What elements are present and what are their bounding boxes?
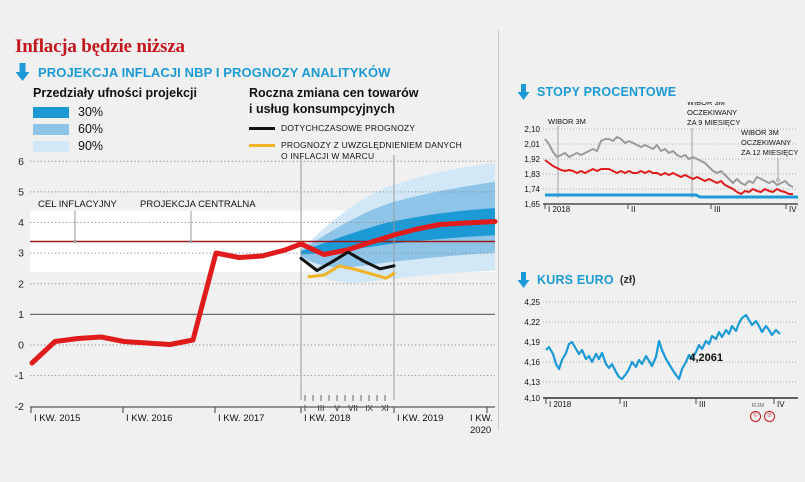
euro-xtick-2018: I 2018 (549, 400, 572, 408)
arrow-down-icon (516, 84, 531, 100)
xtick-2016: I KW. 2016 (126, 413, 172, 424)
euro-xtick-III: III (699, 400, 706, 408)
rates-annotation-wibor3m: WIBOR 3M (548, 117, 586, 126)
ytick-0: 0 (18, 340, 24, 352)
legend-confidence-bands: Przedziały ufności projekcji 30% 60% 90% (33, 86, 248, 156)
euro-x-labels: I 2018 II III IV (549, 400, 785, 408)
euro-value-label: 4,2061 (689, 352, 723, 364)
subtitle-row: PROJEKCJA INFLACJI NBP I PROGNOZY ANALIT… (14, 63, 391, 81)
rates-x-ticks (545, 204, 786, 209)
line-swatch-updated (249, 144, 275, 147)
euro-ytick-416: 4,16 (524, 358, 540, 367)
rates-ytick-210: 2,10 (524, 125, 540, 134)
euro-xtick-IV: IV (777, 400, 785, 408)
euro-panel-header: KURS EURO (zł) (516, 272, 805, 288)
xtick-2018: I KW. 2018 (304, 413, 350, 424)
rates-ytick-201: 2,01 (524, 140, 540, 149)
euro-rate-chart: 4,25 4,22 4,19 4,16 4,13 4,10 4,2061 I 2… (516, 290, 805, 408)
legend-lines-heading: Roczna zmiana cen towarów i usług konsum… (249, 86, 484, 117)
inflation-projection-chart: 6 5 4 3 2 1 0 -1 -2 CEL INFLACYJNY PROJE… (0, 155, 500, 440)
month-label-VII: VII (348, 404, 358, 413)
month-label-III: III (318, 404, 325, 413)
legend-line-item-previous: DOTYCHCZASOWE PROGNOZY (249, 123, 484, 134)
author-initials: RJM (752, 403, 764, 409)
panel-divider (498, 30, 499, 430)
ytick-1: 1 (18, 309, 24, 321)
xtick-2017: I KW. 2017 (218, 413, 264, 424)
band-swatch-90 (33, 141, 69, 152)
band-label-30: 30% (78, 105, 103, 119)
rates-y-labels: 2,10 2,01 1,92 1,83 1,74 1,65 (524, 125, 540, 209)
rates-annotation-9m-line1: WIBOR 3M (687, 102, 725, 107)
ytick-neg1: -1 (15, 370, 24, 382)
euro-panel-title: KURS EURO (537, 273, 614, 287)
annotation-projekcja-centralna-text: PROJEKCJA CENTRALNA (140, 199, 256, 210)
rates-ytick-192: 1,92 (524, 155, 540, 164)
phonogram-icon: ℗ (764, 411, 775, 422)
copyright-marks: © ℗ (750, 411, 775, 422)
xtick-2019: I KW. 2019 (397, 413, 443, 424)
ytick-3: 3 (18, 248, 24, 260)
subtitle-text: PROJEKCJA INFLACJI NBP I PROGNOZY ANALIT… (38, 65, 391, 80)
rates-annotation-12m-line2: OCZEKIWANY (741, 138, 791, 147)
month-label-V: V (334, 404, 340, 413)
euro-ytick-410: 4,10 (524, 394, 540, 403)
month-ticks: I III V VII IX XI (304, 395, 389, 413)
copyright-icon: © (750, 411, 761, 422)
rates-annotation-12m-line3: ZA 12 MIESIĘCY (741, 148, 799, 157)
rates-ytick-183: 1,83 (524, 170, 540, 179)
rates-panel-header: STOPY PROCENTOWE (516, 84, 805, 100)
month-label-IX: IX (365, 404, 373, 413)
rates-x-labels: I 2018 II III IV (548, 205, 797, 212)
legend-band-item-30: 30% (33, 105, 248, 119)
rates-annotation-9m-line3: ZA 9 MIESIĘCY (687, 118, 740, 127)
series-euro-rate (546, 315, 780, 379)
euro-y-labels: 4,25 4,22 4,19 4,16 4,13 4,10 (524, 298, 540, 403)
euro-ytick-422: 4,22 (524, 318, 540, 327)
month-label-XI: XI (381, 404, 389, 413)
x-axis-labels: I KW. 2015 I KW. 2016 I KW. 2017 I KW. 2… (34, 413, 493, 436)
ytick-2: 2 (18, 278, 24, 290)
band-label-90: 90% (78, 139, 103, 153)
ytick-6: 6 (18, 156, 24, 168)
legend-lines-heading-line1: Roczna zmiana cen towarów (249, 86, 418, 100)
xtick-2020-line2: 2020 (470, 425, 491, 436)
interest-rates-chart: WIBOR 3M WIBOR 3M OCZEKIWANY ZA 9 MIESIĘ… (516, 102, 805, 212)
band-swatch-30 (33, 107, 69, 118)
euro-panel-unit: (zł) (620, 274, 636, 286)
rates-annotations: WIBOR 3M WIBOR 3M OCZEKIWANY ZA 9 MIESIĘ… (548, 102, 799, 157)
rates-annotation-9m-line2: OCZEKIWANY (687, 108, 737, 117)
rates-ytick-174: 1,74 (524, 185, 540, 194)
rates-panel-title: STOPY PROCENTOWE (537, 85, 676, 99)
panel-interest-rates: STOPY PROCENTOWE WIBOR 3M WIBOR 3M OCZEK… (516, 84, 805, 212)
series-wibor-3m (545, 195, 798, 197)
line-swatch-previous (249, 127, 275, 130)
infographic-page: Inflacja będzie niższa PROJEKCJA INFLACJ… (0, 0, 805, 482)
rates-ytick-165: 1,65 (524, 200, 540, 209)
rates-xtick-III: III (714, 205, 721, 212)
ytick-4: 4 (18, 217, 24, 229)
arrow-down-icon (516, 272, 531, 288)
arrow-down-icon (14, 63, 31, 81)
legend-series-lines: Roczna zmiana cen towarów i usług konsum… (249, 86, 484, 161)
euro-ytick-419: 4,19 (524, 338, 540, 347)
rates-xtick-2018: I 2018 (548, 205, 571, 212)
band-swatch-60 (33, 124, 69, 135)
line-label-updated-line1: PROGNOZY Z UWZGLĘDNIENIEM DANYCH (281, 140, 462, 150)
legend-band-item-90: 90% (33, 139, 248, 153)
euro-gridlines (543, 302, 798, 382)
rates-xtick-II: II (631, 205, 635, 212)
line-label-previous: DOTYCHCZASOWE PROGNOZY (281, 123, 415, 134)
euro-xtick-II: II (623, 400, 627, 408)
legend-lines-heading-line2: i usług konsumpcyjnych (249, 102, 395, 116)
annotation-cel-inflacyjny-text: CEL INFLACYJNY (38, 199, 117, 210)
band-label-60: 60% (78, 122, 103, 136)
y-axis-labels: 6 5 4 3 2 1 0 -1 -2 (15, 156, 25, 413)
ytick-neg2: -2 (15, 401, 24, 413)
page-title: Inflacja będzie niższa (15, 36, 185, 58)
ytick-5: 5 (18, 187, 24, 199)
month-label-I: I (304, 404, 306, 413)
xtick-2015: I KW. 2015 (34, 413, 80, 424)
panel-euro-rate: KURS EURO (zł) 4,25 4,22 4,19 4,16 4,13 … (516, 272, 805, 408)
xtick-2020-line1: I KW. (470, 413, 493, 424)
euro-ytick-413: 4,13 (524, 378, 540, 387)
rates-xtick-IV: IV (789, 205, 797, 212)
legend-bands-heading: Przedziały ufności projekcji (33, 86, 248, 100)
euro-ytick-425: 4,25 (524, 298, 540, 307)
legend-band-item-60: 60% (33, 122, 248, 136)
